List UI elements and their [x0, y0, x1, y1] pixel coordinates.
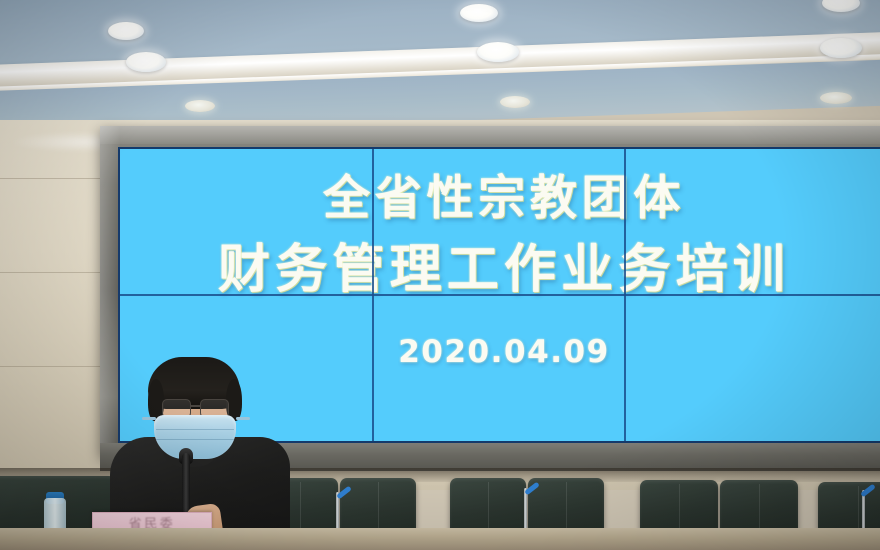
downlight-lower-3 [820, 38, 862, 58]
wall-spot-1 [185, 100, 215, 112]
conference-room-scene: 全省性宗教团体 财务管理工作业务培训 2020.04.09 [0, 0, 880, 550]
slide-title-line-1: 全省性宗教团体 [323, 175, 685, 222]
slide-title-line-2: 财务管理工作业务培训 [218, 244, 790, 296]
wall-spot-2 [500, 96, 530, 108]
video-wall-frame-highlight [100, 126, 880, 144]
downlight-upper-1 [108, 22, 144, 40]
speaker-face-mask [154, 415, 236, 459]
downlight-lower-1 [126, 52, 166, 72]
speaker-glasses-bridge [190, 405, 200, 407]
mask-strap-right [236, 417, 250, 420]
downlight-upper-2 [460, 4, 498, 22]
foreground-table-edge [0, 528, 880, 550]
panel-seam-horizontal [120, 294, 880, 296]
slide-date: 2020.04.09 [398, 334, 610, 370]
wall-spot-3 [820, 92, 852, 104]
mask-pleat-1 [156, 429, 234, 430]
mask-strap-left [142, 417, 156, 420]
downlight-lower-2 [477, 42, 519, 62]
mask-pleat-2 [156, 439, 234, 440]
